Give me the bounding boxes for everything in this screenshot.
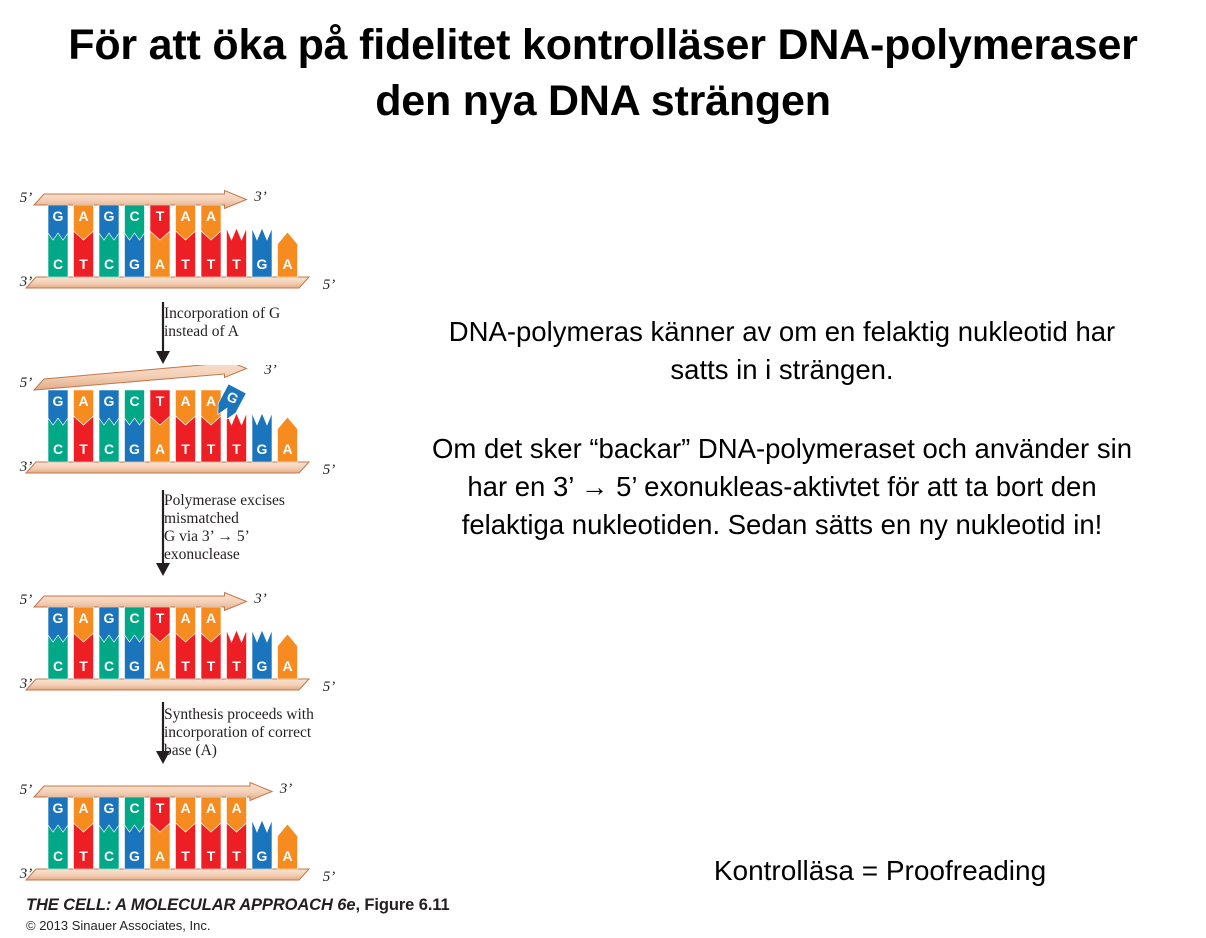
svg-text:T: T [181,658,190,674]
svg-text:T: T [181,256,190,272]
svg-text:G: G [129,441,140,457]
svg-text:A: A [78,610,88,626]
svg-text:G: G [257,658,268,674]
dna-panel-3: CTCGATTTGAGAGCTAA5’3’3’5’ [0,582,360,707]
footnote-proofreading: Kontrolläsa = Proofreading [620,855,1140,887]
svg-text:A: A [282,658,292,674]
label-five-prime-top: 5’ [20,375,33,391]
svg-text:G: G [129,256,140,272]
svg-text:A: A [180,800,190,816]
label-three-prime-top: 3’ [279,781,293,797]
svg-text:T: T [232,848,241,864]
dna-proofreading-figure: CTCGATTTGAGAGCTAA5’3’3’5’CTCGATTTGAGAGCT… [0,172,430,938]
svg-text:C: C [129,800,139,816]
label-three-prime-top: 3’ [263,365,277,378]
svg-text:A: A [155,441,165,457]
svg-text:T: T [207,848,216,864]
svg-text:G: G [53,610,64,626]
svg-text:A: A [231,800,241,816]
svg-text:G: G [257,256,268,272]
credit-copyright: © 2013 Sinauer Associates, Inc. [26,918,546,933]
svg-text:G: G [257,848,268,864]
label-five-prime-top: 5’ [20,190,33,206]
svg-text:A: A [180,393,190,409]
label-three-prime-bottom: 3’ [19,274,33,290]
svg-text:G: G [104,800,115,816]
svg-text:A: A [282,848,292,864]
svg-text:T: T [232,256,241,272]
svg-text:A: A [78,208,88,224]
body-paragraph-1: DNA-polymeras känner av om en felaktig n… [432,313,1132,389]
label-three-prime-bottom: 3’ [19,866,33,882]
svg-text:G: G [129,848,140,864]
label-five-prime-top: 5’ [20,782,33,798]
svg-text:C: C [53,848,63,864]
svg-text:G: G [129,658,140,674]
credit-source-figure: , Figure 6.11 [355,896,449,914]
svg-text:C: C [104,256,114,272]
svg-text:T: T [79,848,88,864]
label-five-prime-bottom: 5’ [323,277,336,293]
svg-text:A: A [206,393,216,409]
dna-panel-2: CTCGATTTGAGAGCTAAG5’3’3’5’ [0,365,360,490]
svg-text:G: G [53,208,64,224]
svg-text:T: T [156,393,165,409]
svg-text:A: A [180,208,190,224]
step-label-1: Incorporation of G instead of A [164,305,364,341]
svg-text:T: T [79,441,88,457]
svg-text:G: G [257,441,268,457]
svg-text:C: C [53,441,63,457]
svg-text:A: A [206,800,216,816]
figure-credit: THE CELL: A MOLECULAR APPROACH 6e, Figur… [26,896,546,933]
label-five-prime-bottom: 5’ [323,679,336,695]
label-five-prime-bottom: 5’ [323,869,336,885]
svg-text:G: G [104,610,115,626]
svg-text:C: C [129,393,139,409]
label-three-prime-top: 3’ [253,189,267,205]
svg-text:C: C [53,256,63,272]
svg-text:A: A [78,393,88,409]
svg-text:A: A [206,610,216,626]
dna-panel-1: CTCGATTTGAGAGCTAA5’3’3’5’ [0,180,360,305]
svg-text:T: T [79,658,88,674]
svg-text:A: A [78,800,88,816]
svg-text:T: T [156,208,165,224]
label-three-prime-top: 3’ [253,591,267,607]
credit-source-italic: THE CELL: A MOLECULAR APPROACH 6e [26,896,355,914]
svg-text:G: G [53,393,64,409]
label-three-prime-bottom: 3’ [19,676,33,692]
svg-text:T: T [156,800,165,816]
credit-source: THE CELL: A MOLECULAR APPROACH 6e, Figur… [26,896,546,915]
svg-text:C: C [129,208,139,224]
svg-text:A: A [155,848,165,864]
svg-text:T: T [232,441,241,457]
svg-text:G: G [53,800,64,816]
svg-text:T: T [207,256,216,272]
svg-text:T: T [181,848,190,864]
svg-text:C: C [104,441,114,457]
svg-text:T: T [207,441,216,457]
step-label-2: Polymerase excises mismatched G via 3’ →… [164,492,364,565]
svg-text:A: A [180,610,190,626]
svg-text:T: T [232,658,241,674]
svg-text:A: A [155,256,165,272]
svg-text:A: A [282,256,292,272]
svg-text:A: A [206,208,216,224]
svg-text:T: T [79,256,88,272]
body-paragraph-2: Om det sker “backar” DNA-polymeraset och… [432,430,1132,544]
label-five-prime-top: 5’ [20,592,33,608]
svg-text:C: C [129,610,139,626]
svg-text:G: G [104,208,115,224]
svg-text:A: A [155,658,165,674]
svg-text:C: C [104,848,114,864]
svg-text:T: T [156,610,165,626]
slide-canvas: För att öka på fidelitet kontrolläser DN… [0,0,1206,938]
dna-panel-4: CTCGATTTGAGAGCTAAA5’3’3’5’ [0,772,360,897]
svg-text:T: T [207,658,216,674]
label-five-prime-bottom: 5’ [323,462,336,478]
step-label-3: Synthesis proceeds with incorporation of… [164,706,364,760]
svg-text:A: A [282,441,292,457]
svg-text:C: C [104,658,114,674]
svg-text:T: T [181,441,190,457]
label-three-prime-bottom: 3’ [19,459,33,475]
svg-text:C: C [53,658,63,674]
page-title: För att öka på fidelitet kontrolläser DN… [60,18,1146,130]
svg-text:G: G [104,393,115,409]
